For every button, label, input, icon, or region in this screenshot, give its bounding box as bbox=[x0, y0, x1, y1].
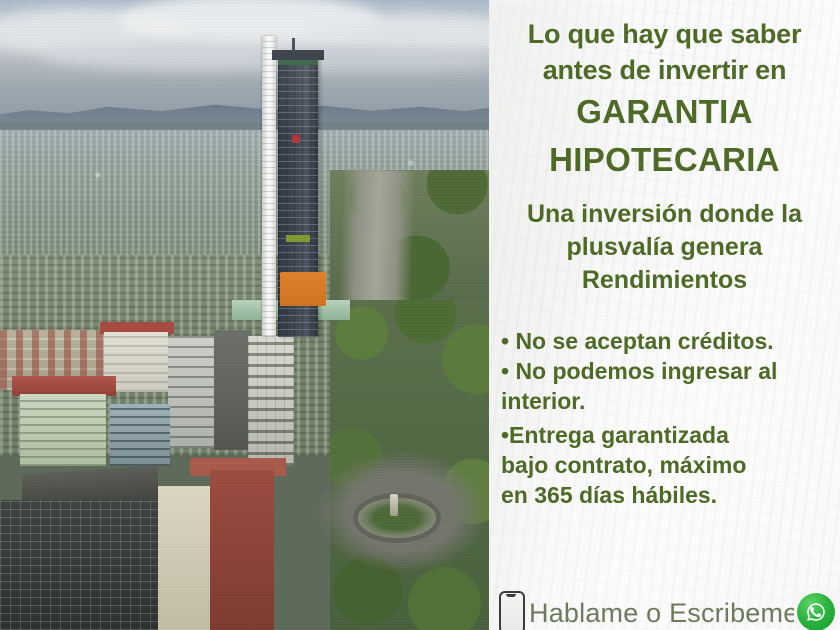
skyscraper-green-terrace bbox=[286, 235, 310, 242]
subheadline-line-3: Rendimientos bbox=[489, 264, 840, 297]
subheadline: Una inversión donde la plusvalía genera … bbox=[489, 198, 840, 297]
blue-gray-building bbox=[110, 404, 170, 466]
panel-content: Lo que hay que saber antes de invertir e… bbox=[489, 0, 840, 630]
skyscraper-orange-podium bbox=[280, 272, 326, 306]
contact-cta-bar[interactable]: Hablame o Escribeme bbox=[489, 588, 840, 630]
headline-line-1: Lo que hay que saber bbox=[489, 16, 840, 52]
whatsapp-icon bbox=[797, 593, 835, 630]
red-roof bbox=[12, 376, 116, 396]
dark-office-building bbox=[214, 330, 252, 450]
tall-office-tower bbox=[248, 336, 294, 466]
list-item: • No podemos ingresar al interior. bbox=[501, 356, 837, 416]
text-panel: Lo que hay que saber antes de invertir e… bbox=[489, 0, 840, 630]
headline-big-line-2: HIPOTECARIA bbox=[489, 136, 840, 184]
bullet-list: • No se aceptan créditos. • No podemos i… bbox=[501, 326, 837, 510]
headline-big-line-1: GARANTIA bbox=[489, 88, 840, 136]
building-blocks bbox=[0, 0, 489, 630]
subheadline-line-2: plusvalía genera bbox=[489, 231, 840, 264]
headline: Lo que hay que saber antes de invertir e… bbox=[489, 16, 840, 88]
dark-tower-foreground bbox=[0, 500, 182, 630]
gray-office-building bbox=[168, 336, 214, 448]
list-item: •Entrega garantizada bajo contrato, máxi… bbox=[501, 420, 837, 510]
subheadline-line-1: Una inversión donde la bbox=[489, 198, 840, 231]
skyscraper-roof-cap bbox=[272, 50, 324, 60]
headline-line-2: antes de invertir en bbox=[489, 52, 840, 88]
skyscraper-green-band bbox=[278, 60, 318, 65]
headline-emphasis: GARANTIA HIPOTECARIA bbox=[489, 88, 840, 184]
smartphone-icon bbox=[499, 591, 525, 630]
skyscraper-antenna bbox=[292, 38, 295, 52]
contact-cta-label: Hablame o Escribeme bbox=[529, 598, 798, 629]
white-slim-tower bbox=[262, 36, 276, 336]
list-item: • No se aceptan créditos. bbox=[501, 326, 837, 356]
aerial-cityscape-photo bbox=[0, 0, 489, 630]
red-brick-building bbox=[210, 470, 274, 630]
skyscraper-red-marker bbox=[292, 135, 300, 143]
green-glass-building bbox=[20, 394, 106, 466]
whatsapp-button[interactable] bbox=[794, 590, 838, 630]
poster-root: Lo que hay que saber antes de invertir e… bbox=[0, 0, 840, 630]
